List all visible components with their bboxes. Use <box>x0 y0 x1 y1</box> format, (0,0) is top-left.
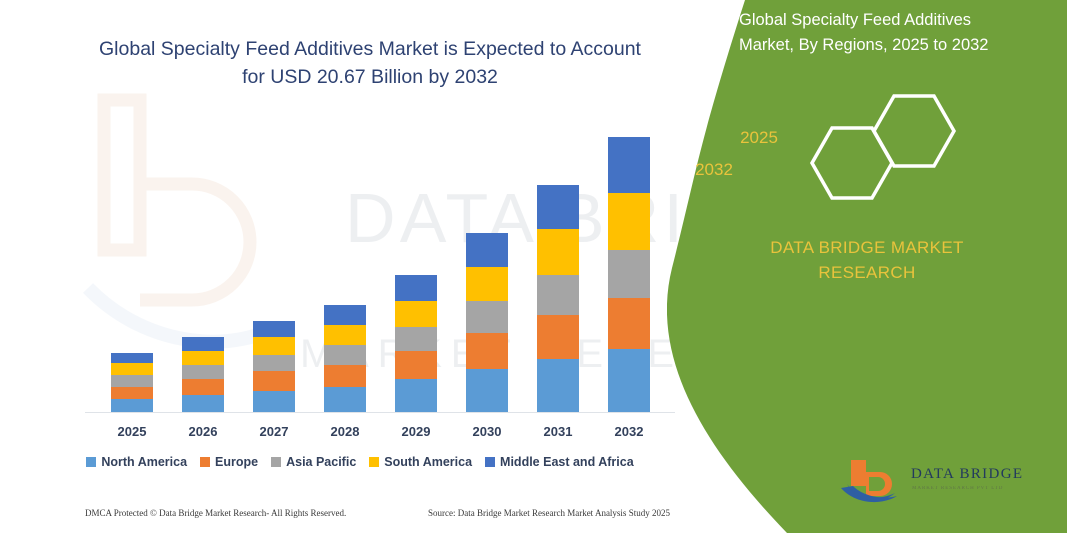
hexagon-group <box>782 88 982 208</box>
bar-segment-2026-europe[interactable] <box>182 379 224 395</box>
x-axis-label-2029: 2029 <box>376 424 456 439</box>
x-axis-label-2030: 2030 <box>447 424 527 439</box>
bar-column-2025[interactable] <box>111 353 153 413</box>
green-panel-title: Global Specialty Feed Additives Market, … <box>739 8 1049 58</box>
footer: DMCA Protected © Data Bridge Market Rese… <box>0 508 700 528</box>
hexagon-2025-label: 2025 <box>719 128 799 148</box>
bar-segment-2030-europe[interactable] <box>466 333 508 369</box>
legend-item-south-america[interactable]: South America <box>369 455 472 469</box>
logo-tagline: MARKET RESEARCH PVT LTD <box>912 486 1003 491</box>
bar-segment-2030-middle-east-and-africa[interactable] <box>466 233 508 267</box>
bar-segment-2031-asia-pacific[interactable] <box>537 275 579 315</box>
footer-dmca-text: DMCA Protected © Data Bridge Market Rese… <box>85 508 346 518</box>
bar-segment-2032-south-america[interactable] <box>608 193 650 250</box>
bar-segment-2026-middle-east-and-africa[interactable] <box>182 337 224 351</box>
bar-column-2026[interactable] <box>182 337 224 413</box>
legend-swatch-icon <box>369 457 379 467</box>
legend-item-asia-pacific[interactable]: Asia Pacific <box>271 455 356 469</box>
legend-item-middle-east-and-africa[interactable]: Middle East and Africa <box>485 455 634 469</box>
chart-legend: North AmericaEuropeAsia PacificSouth Ame… <box>0 455 720 469</box>
bar-segment-2032-middle-east-and-africa[interactable] <box>608 137 650 193</box>
bar-segment-2027-north-america[interactable] <box>253 391 295 413</box>
brand-line1: DATA BRIDGE MARKET <box>770 238 963 257</box>
bar-segment-2028-north-america[interactable] <box>324 387 366 413</box>
bar-segment-2027-south-america[interactable] <box>253 337 295 355</box>
bar-segment-2032-asia-pacific[interactable] <box>608 250 650 298</box>
bar-segment-2026-asia-pacific[interactable] <box>182 365 224 379</box>
x-axis-label-2025: 2025 <box>92 424 172 439</box>
legend-swatch-icon <box>271 457 281 467</box>
hexagon-2032-shape <box>812 128 892 198</box>
chart-title-line2: for USD 20.67 Billion by 2032 <box>242 66 498 88</box>
green-panel-content: Global Specialty Feed Additives Market, … <box>667 0 1067 533</box>
hexagon-2032-label: 2032 <box>674 160 754 180</box>
bar-segment-2028-middle-east-and-africa[interactable] <box>324 305 366 325</box>
bar-segment-2031-south-america[interactable] <box>537 229 579 275</box>
hexagon-shapes <box>782 88 982 208</box>
bar-segment-2027-middle-east-and-africa[interactable] <box>253 321 295 337</box>
bar-segment-2029-europe[interactable] <box>395 351 437 379</box>
x-axis-label-2026: 2026 <box>163 424 243 439</box>
legend-item-north-america[interactable]: North America <box>86 455 187 469</box>
bar-segment-2025-asia-pacific[interactable] <box>111 375 153 387</box>
data-bridge-logo: DATA BRIDGE MARKET RESEARCH PVT LTD <box>839 458 1039 510</box>
bar-segment-2026-south-america[interactable] <box>182 351 224 365</box>
bar-segment-2030-north-america[interactable] <box>466 369 508 413</box>
brand-name: DATA BRIDGE MARKET RESEARCH <box>712 236 1022 285</box>
legend-label: North America <box>101 455 187 469</box>
legend-swatch-icon <box>86 457 96 467</box>
data-bridge-logo-mark-icon <box>839 458 905 506</box>
x-axis-label-2032: 2032 <box>589 424 669 439</box>
bar-segment-2028-asia-pacific[interactable] <box>324 345 366 365</box>
bar-segment-2031-north-america[interactable] <box>537 359 579 413</box>
brand-line2: RESEARCH <box>818 263 915 282</box>
legend-item-europe[interactable]: Europe <box>200 455 258 469</box>
plot-area <box>85 120 680 413</box>
bar-column-2027[interactable] <box>253 321 295 413</box>
green-title-line1: Global Specialty Feed Additives <box>739 11 971 29</box>
bar-segment-2029-middle-east-and-africa[interactable] <box>395 275 437 301</box>
bar-segment-2027-asia-pacific[interactable] <box>253 355 295 371</box>
bar-column-2028[interactable] <box>324 305 366 413</box>
bar-segment-2025-north-america[interactable] <box>111 399 153 413</box>
bar-segment-2025-middle-east-and-africa[interactable] <box>111 353 153 363</box>
bar-segment-2029-asia-pacific[interactable] <box>395 327 437 351</box>
chart-title-line1: Global Specialty Feed Additives Market i… <box>99 38 641 60</box>
x-axis-line <box>85 412 675 413</box>
x-axis-labels: 20252026202720282029203020312032 <box>85 424 680 446</box>
bar-segment-2029-south-america[interactable] <box>395 301 437 327</box>
x-axis-label-2028: 2028 <box>305 424 385 439</box>
legend-swatch-icon <box>200 457 210 467</box>
bar-segment-2025-south-america[interactable] <box>111 363 153 375</box>
bar-segment-2031-middle-east-and-africa[interactable] <box>537 185 579 229</box>
logo-name: DATA BRIDGE <box>911 466 1023 483</box>
bar-segment-2030-south-america[interactable] <box>466 267 508 301</box>
bar-segment-2032-north-america[interactable] <box>608 349 650 413</box>
chart-title: Global Specialty Feed Additives Market i… <box>60 36 680 91</box>
bar-segment-2027-europe[interactable] <box>253 371 295 391</box>
legend-label: Asia Pacific <box>286 455 356 469</box>
bar-segment-2031-europe[interactable] <box>537 315 579 359</box>
chart-panel: Global Specialty Feed Additives Market i… <box>0 0 720 533</box>
bar-segment-2029-north-america[interactable] <box>395 379 437 413</box>
bar-column-2032[interactable] <box>608 137 650 413</box>
bar-segment-2028-south-america[interactable] <box>324 325 366 345</box>
x-axis-label-2031: 2031 <box>518 424 598 439</box>
bar-segment-2030-asia-pacific[interactable] <box>466 301 508 333</box>
footer-source-text: Source: Data Bridge Market Research Mark… <box>428 508 670 518</box>
bar-column-2031[interactable] <box>537 185 579 413</box>
bar-segment-2026-north-america[interactable] <box>182 395 224 413</box>
bar-column-2029[interactable] <box>395 275 437 413</box>
legend-swatch-icon <box>485 457 495 467</box>
x-axis-label-2027: 2027 <box>234 424 314 439</box>
bar-column-2030[interactable] <box>466 233 508 413</box>
bar-segment-2028-europe[interactable] <box>324 365 366 387</box>
bar-segment-2025-europe[interactable] <box>111 387 153 399</box>
legend-label: South America <box>384 455 472 469</box>
legend-label: Middle East and Africa <box>500 455 634 469</box>
green-panel: Global Specialty Feed Additives Market, … <box>667 0 1067 533</box>
bar-segment-2032-europe[interactable] <box>608 298 650 349</box>
green-title-line2: Market, By Regions, 2025 to 2032 <box>739 36 988 54</box>
legend-label: Europe <box>215 455 258 469</box>
